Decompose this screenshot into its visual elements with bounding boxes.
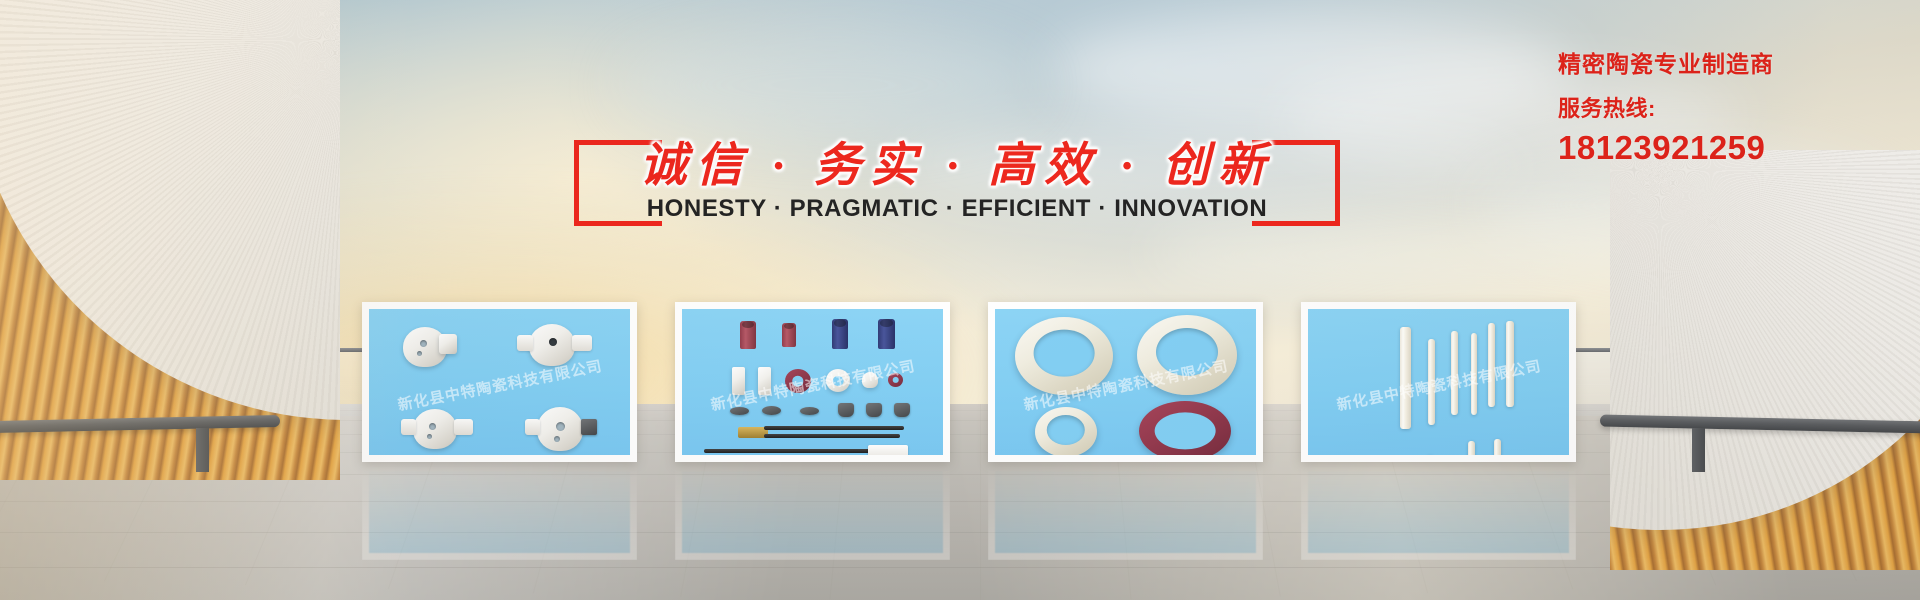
ceramic-sleeve-red xyxy=(782,323,796,347)
ceramic-rod xyxy=(1488,323,1495,407)
metal-terminal xyxy=(838,403,854,417)
ceramic-ring-red-large xyxy=(1139,401,1231,455)
contact-block: 精密陶瓷专业制造商 服务热线: 18123921259 xyxy=(1558,52,1888,166)
ceramic-sleeve-blue xyxy=(878,319,895,349)
product-panel-ceramic-sleeves[interactable]: 新化县中特陶瓷科技有限公司 xyxy=(675,302,950,462)
ceramic-lamp-holder xyxy=(413,409,457,449)
ceramic-sleeve-red xyxy=(740,321,756,349)
ceramic-ring-red xyxy=(785,369,811,393)
ceramic-rod-short xyxy=(1494,439,1501,455)
product-panel-ceramic-rings[interactable]: 新化县中特陶瓷科技有限公司 xyxy=(988,302,1263,462)
ceramic-lamp-holder xyxy=(529,324,575,366)
ceramic-plate xyxy=(758,367,771,395)
wire-connector-white xyxy=(868,445,908,455)
ceramic-rod xyxy=(1400,327,1411,429)
company-tagline: 精密陶瓷专业制造商 xyxy=(1558,52,1888,76)
product-panel-ceramic-lamp-holders[interactable]: 新化县中特陶瓷科技有限公司 xyxy=(362,302,637,462)
hotline-label: 服务热线: xyxy=(1558,97,1888,120)
slogan-chinese: 诚信 · 务实 · 高效 · 创新 xyxy=(574,126,1340,195)
slogan-english: HONESTY · PRAGMATIC · EFFICIENT · INNOVA… xyxy=(574,195,1340,223)
ceramic-rod-short xyxy=(1468,441,1475,455)
product-panel-ceramic-rods[interactable]: 新化县中特陶瓷科技有限公司 xyxy=(1301,302,1576,462)
black-wire xyxy=(764,434,900,438)
railing-post xyxy=(1692,428,1705,472)
panel-image: 新化县中特陶瓷科技有限公司 xyxy=(682,309,943,455)
ceramic-plate xyxy=(732,367,745,395)
mounting-tab xyxy=(454,419,473,435)
slogan-block: 诚信 · 务实 · 高效 · 创新 HONESTY · PRAGMATIC · … xyxy=(574,132,1340,236)
ceramic-ring-large xyxy=(1137,315,1237,395)
black-wire xyxy=(764,426,904,430)
wood-slat-canopy-left xyxy=(0,0,340,480)
railing-post xyxy=(196,428,209,472)
metal-terminal xyxy=(762,406,781,415)
wood-slat-canopy-right xyxy=(1610,150,1920,570)
promo-banner: 诚信 · 务实 · 高效 · 创新 HONESTY · PRAGMATIC · … xyxy=(0,0,1920,600)
ceramic-sleeve-blue xyxy=(832,319,848,349)
mounting-tab xyxy=(517,335,533,351)
ceramic-ring-white xyxy=(826,369,850,392)
metal-terminal xyxy=(730,407,749,415)
ceramic-lamp-holder xyxy=(537,407,583,451)
ceramic-ring-small xyxy=(1035,407,1097,455)
mounting-tab xyxy=(572,335,592,351)
metal-terminal xyxy=(581,419,597,435)
ceramic-rod xyxy=(1471,333,1477,415)
ceramic-cap xyxy=(862,372,878,388)
panel-image: 新化县中特陶瓷科技有限公司 xyxy=(1308,309,1569,455)
hotline-number[interactable]: 18123921259 xyxy=(1558,131,1888,166)
ceramic-rod xyxy=(1451,331,1458,415)
ceramic-rod xyxy=(1506,321,1514,407)
metal-terminal xyxy=(800,407,819,415)
panel-image: 新化县中特陶瓷科技有限公司 xyxy=(995,309,1256,455)
ceramic-rod xyxy=(1428,339,1435,425)
panel-image: 新化县中特陶瓷科技有限公司 xyxy=(369,309,630,455)
mounting-tab xyxy=(401,419,416,435)
mounting-tab xyxy=(525,419,540,435)
metal-terminal xyxy=(866,403,882,417)
metal-terminal xyxy=(894,403,910,417)
ceramic-ring-large xyxy=(1015,317,1113,395)
product-panel-row: 新化县中特陶瓷科技有限公司 xyxy=(362,302,1576,462)
ceramic-lamp-holder-collar xyxy=(439,334,457,354)
black-wire xyxy=(704,449,872,453)
ceramic-ring-red-small xyxy=(888,373,903,387)
